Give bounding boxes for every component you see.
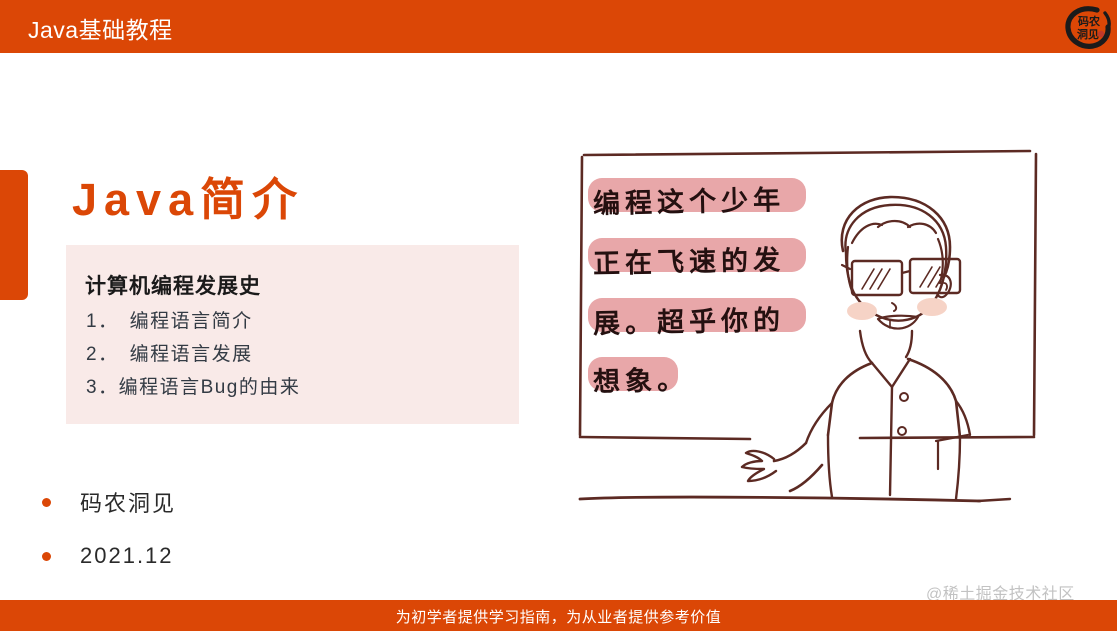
list-item: 2． 编程语言发展 (86, 338, 506, 371)
list-item: 1． 编程语言简介 (86, 305, 506, 338)
bullet-row: 2021.12 (42, 543, 174, 569)
footer-text: 为初学者提供学习指南，为从业者提供参考价值 (0, 606, 1117, 627)
left-accent-bar (0, 170, 28, 300)
line-art-drawing (560, 135, 1060, 525)
svg-text:码农: 码农 (1078, 14, 1100, 28)
svg-text:洞见: 洞见 (1077, 27, 1099, 41)
numbered-list: 1． 编程语言简介 2． 编程语言发展 3．编程语言Bug的由来 (86, 305, 506, 404)
brand-logo: 码农 洞见 (1063, 3, 1111, 51)
cheek-blush (917, 298, 947, 316)
page-title: Java简介 (72, 163, 304, 228)
seal-logo-icon: 码农 洞见 (1063, 3, 1111, 51)
bullet-dot-icon (42, 498, 51, 507)
cheek-blush (847, 302, 877, 320)
list-item: 3．编程语言Bug的由来 (86, 371, 506, 404)
bullet-row: 码农洞见 (42, 486, 176, 518)
bullet-label: 2021.12 (80, 543, 174, 569)
bullet-label: 码农洞见 (80, 486, 176, 518)
slide-canvas: Java基础教程 码农 洞见 Java简介 计算机编程发展史 1． 编程语言简介… (0, 0, 1117, 631)
illustration: 编程这个少年 正在飞速的发 展。超乎你的 想象。 (560, 135, 1060, 525)
panel-heading: 计算机编程发展史 (85, 270, 261, 300)
header-title: Java基础教程 (28, 11, 173, 45)
bullet-dot-icon (42, 552, 51, 561)
